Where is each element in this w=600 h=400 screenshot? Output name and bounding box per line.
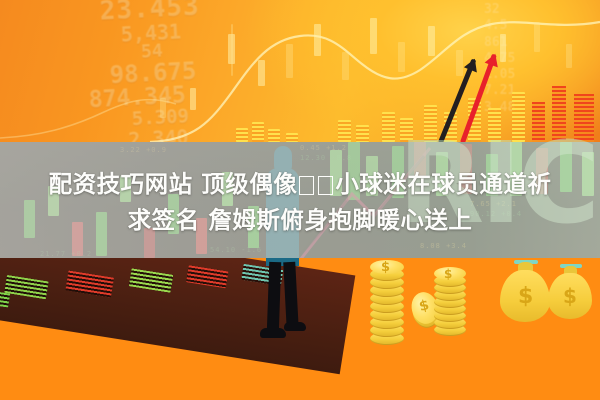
candlestick: [456, 50, 463, 76]
coin-stack: $: [370, 258, 404, 342]
dollar-symbol-icon: $: [381, 260, 390, 275]
title-line-1-before: 配资技巧网站 顶级偶像: [49, 170, 298, 198]
missing-glyph-box-1: [299, 176, 314, 195]
money-bag: $: [546, 264, 594, 322]
candlestick: [160, 98, 166, 118]
candlestick: [314, 24, 321, 56]
cover-title: 配资技巧网站 顶级偶像小球迷在球员通道祈 求签名 詹姆斯俯身抱脚暖心送上: [0, 142, 600, 262]
desk-bar: [65, 271, 114, 298]
dollar-symbol-icon: $: [563, 284, 577, 308]
orange-floor-bottom: $ $ $ $: [0, 258, 600, 400]
bar: [252, 122, 264, 142]
desk-bar: [4, 275, 48, 299]
bar: [382, 112, 395, 142]
money-bag: $: [498, 260, 552, 324]
dollar-symbol-icon: $: [518, 284, 533, 309]
desk-bar: [129, 268, 173, 292]
desk-bar: [186, 265, 228, 288]
candlestick: [428, 26, 435, 56]
missing-glyph-box-2: [318, 176, 333, 195]
coin-stack: $: [434, 262, 466, 336]
bar: [356, 125, 369, 142]
candlestick: [398, 42, 405, 72]
candlestick: [286, 44, 293, 78]
candlestick-wick: [231, 24, 233, 76]
bar: [286, 133, 298, 142]
title-line-2: 求签名 詹姆斯俯身抱脚暖心送上: [128, 202, 473, 238]
candlestick: [534, 22, 540, 52]
candlestick: [370, 18, 377, 54]
candlestick: [190, 88, 196, 110]
person-silhouette-legs: [262, 258, 308, 348]
title-line-1-after: 小球迷在球员通道祈: [335, 170, 551, 198]
dollar-symbol-icon: $: [444, 267, 452, 281]
candlestick: [258, 60, 265, 86]
bar: [236, 128, 248, 142]
title-line-1: 配资技巧网站 顶级偶像小球迷在球员通道祈: [49, 166, 552, 202]
bar: [338, 120, 351, 142]
bar: [268, 129, 280, 142]
article-cover-image: 23.453 5,431 54 98.675 874.345 5.309 2.3…: [0, 0, 600, 400]
candlestick: [566, 44, 572, 68]
candlestick: [342, 52, 349, 80]
